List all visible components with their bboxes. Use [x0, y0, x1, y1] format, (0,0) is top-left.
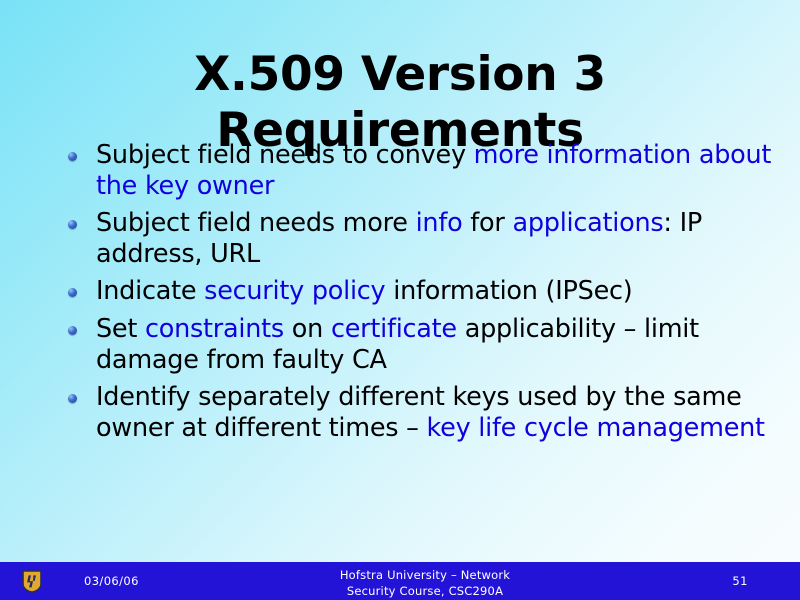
text-run: information (IPSec) — [385, 276, 632, 306]
list-item-text: Subject field needs to convey more infor… — [96, 140, 771, 201]
list-item-text: Subject field needs more info for applic… — [96, 208, 702, 269]
highlighted-text-run: key life cycle management — [427, 413, 765, 443]
text-run: Subject field needs more — [96, 208, 416, 238]
list-item-text: Set constraints on certificate applicabi… — [96, 314, 699, 375]
text-run: for — [462, 208, 512, 238]
text-run: Set — [96, 314, 145, 344]
list-item: Set constraints on certificate applicabi… — [60, 314, 776, 376]
highlighted-text-run: applications — [512, 208, 663, 238]
presentation-slide: X.509 Version 3 Requirements Subject fie… — [0, 0, 800, 600]
bullet-point-icon — [68, 220, 77, 229]
list-item-text: Indicate security policy information (IP… — [96, 276, 632, 306]
list-item-text: Identify separately different keys used … — [96, 382, 765, 443]
highlighted-text-run: security policy — [204, 276, 385, 306]
text-run: Indicate — [96, 276, 204, 306]
list-item: Identify separately different keys used … — [60, 382, 776, 444]
bullet-list: Subject field needs to convey more infor… — [60, 140, 776, 450]
hofstra-shield-logo-icon — [22, 570, 42, 593]
bullet-point-icon — [68, 288, 77, 297]
bullet-point-icon — [68, 394, 77, 403]
footer-date: 03/06/06 — [84, 574, 139, 588]
list-item: Subject field needs to convey more infor… — [60, 140, 776, 202]
text-run: Subject field needs to convey — [96, 140, 474, 170]
list-item: Indicate security policy information (IP… — [60, 276, 776, 307]
list-item: Subject field needs more info for applic… — [60, 208, 776, 270]
bullet-point-icon — [68, 326, 77, 335]
text-run: on — [284, 314, 331, 344]
bullet-point-icon — [68, 152, 77, 161]
highlighted-text-run: info — [416, 208, 463, 238]
footer-course-line-2: Security Course, CSC290A — [260, 583, 590, 599]
slide-page-number: 51 — [732, 574, 748, 588]
footer-course-info: Hofstra University – Network Security Co… — [260, 567, 590, 600]
highlighted-text-run: certificate — [331, 314, 457, 344]
highlighted-text-run: constraints — [145, 314, 284, 344]
footer-course-line-1: Hofstra University – Network — [260, 567, 590, 583]
slide-footer: 03/06/06 Hofstra University – Network Se… — [0, 562, 800, 600]
